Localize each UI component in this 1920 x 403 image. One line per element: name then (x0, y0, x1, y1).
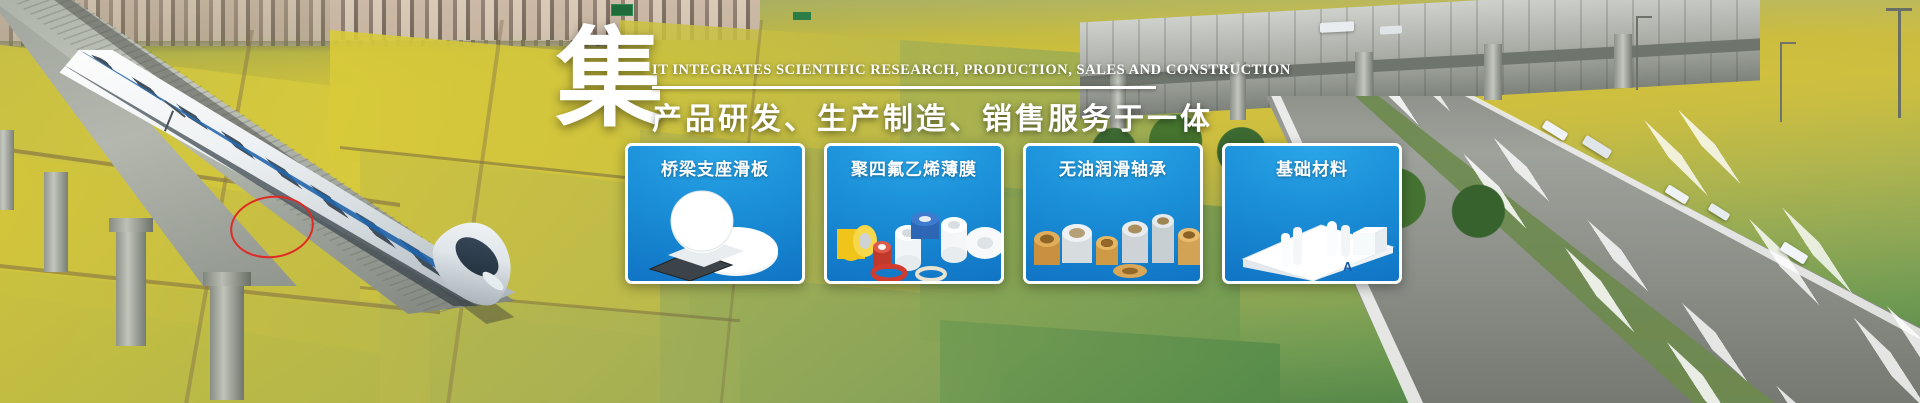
headline-block: 集 IT INTEGRATES SCIENTIFIC RESEARCH, PRO… (556, 22, 1156, 142)
product-card-base-materials[interactable]: 基础材料 A (1222, 143, 1402, 284)
ptfe-film-rolls-icon (827, 181, 1001, 281)
product-card-title: 桥梁支座滑板 (628, 155, 802, 180)
svg-text:A: A (1343, 259, 1353, 274)
product-card-bridge-bearing-slide-plate[interactable]: 桥梁支座滑板 (625, 143, 805, 284)
product-card-title: 基础材料 (1225, 155, 1399, 180)
big-character: 集 (556, 26, 664, 134)
highway-sign-2 (793, 12, 811, 20)
chinese-tagline: 产品研发、生产制造、销售服务于一体 (652, 94, 1213, 138)
highway-sign (611, 4, 633, 16)
product-card-list: 桥梁支座滑板 聚四氟乙烯薄膜 (625, 143, 1402, 284)
hero-banner: 集 IT INTEGRATES SCIENTIFIC RESEARCH, PRO… (0, 0, 1920, 403)
headline-divider (652, 86, 1156, 89)
product-card-ptfe-film[interactable]: 聚四氟乙烯薄膜 (824, 143, 1004, 284)
product-card-title: 无油润滑轴承 (1026, 155, 1200, 180)
oil-free-bearings-icon (1026, 181, 1200, 281)
base-materials-blocks-icon: A (1225, 181, 1399, 281)
bridge-bearing-slide-plate-icon (628, 181, 802, 281)
product-card-title: 聚四氟乙烯薄膜 (827, 155, 1001, 180)
product-card-oil-free-bearing[interactable]: 无油润滑轴承 (1023, 143, 1203, 284)
english-tagline: IT INTEGRATES SCIENTIFIC RESEARCH, PRODU… (652, 62, 1156, 79)
